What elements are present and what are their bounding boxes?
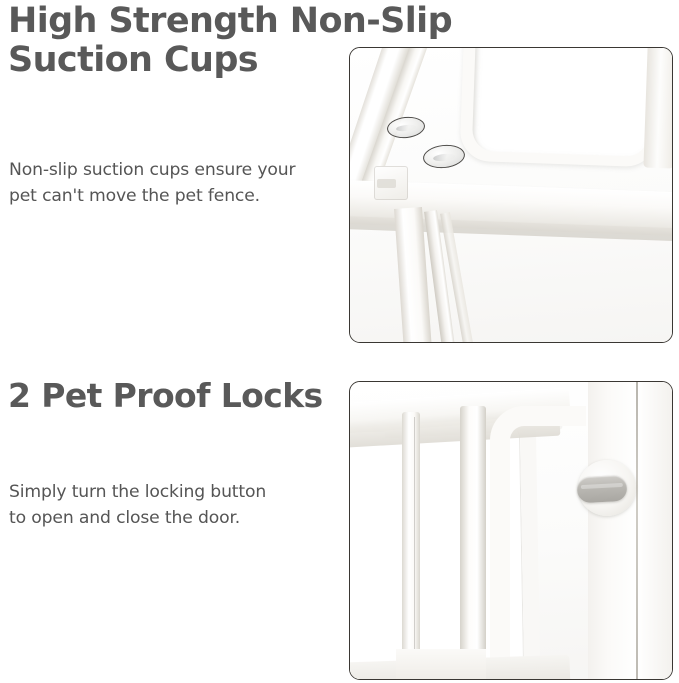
fence-corner-notch xyxy=(377,179,396,188)
fence-mullion-center xyxy=(460,406,486,680)
fence-door-panel xyxy=(588,382,673,680)
feature-body-suction-cups: Non-slip suction cups ensure your pet ca… xyxy=(9,157,339,209)
locking-button-icon xyxy=(576,475,627,504)
fence-foot xyxy=(396,649,486,680)
feature-body-pet-proof-locks: Simply turn the locking button to open a… xyxy=(9,479,319,531)
pet-fence-lock-photo xyxy=(349,381,673,680)
fence-window-opening xyxy=(472,47,652,157)
fence-door-seam-primary xyxy=(636,382,638,680)
feature-heading-pet-proof-locks: 2 Pet Proof Locks xyxy=(8,378,348,414)
photo-background xyxy=(350,382,672,679)
fence-mullion-left xyxy=(402,412,420,680)
suction-cup-icon xyxy=(422,143,466,170)
fence-right-column xyxy=(643,47,673,168)
pet-fence-suction-cup-photo xyxy=(349,47,673,343)
product-feature-page: High Strength Non-Slip Suction Cups Non-… xyxy=(0,0,679,683)
fence-window-frame-right xyxy=(490,406,586,680)
photo-background xyxy=(350,48,672,342)
fence-mullion-seam xyxy=(414,417,415,680)
